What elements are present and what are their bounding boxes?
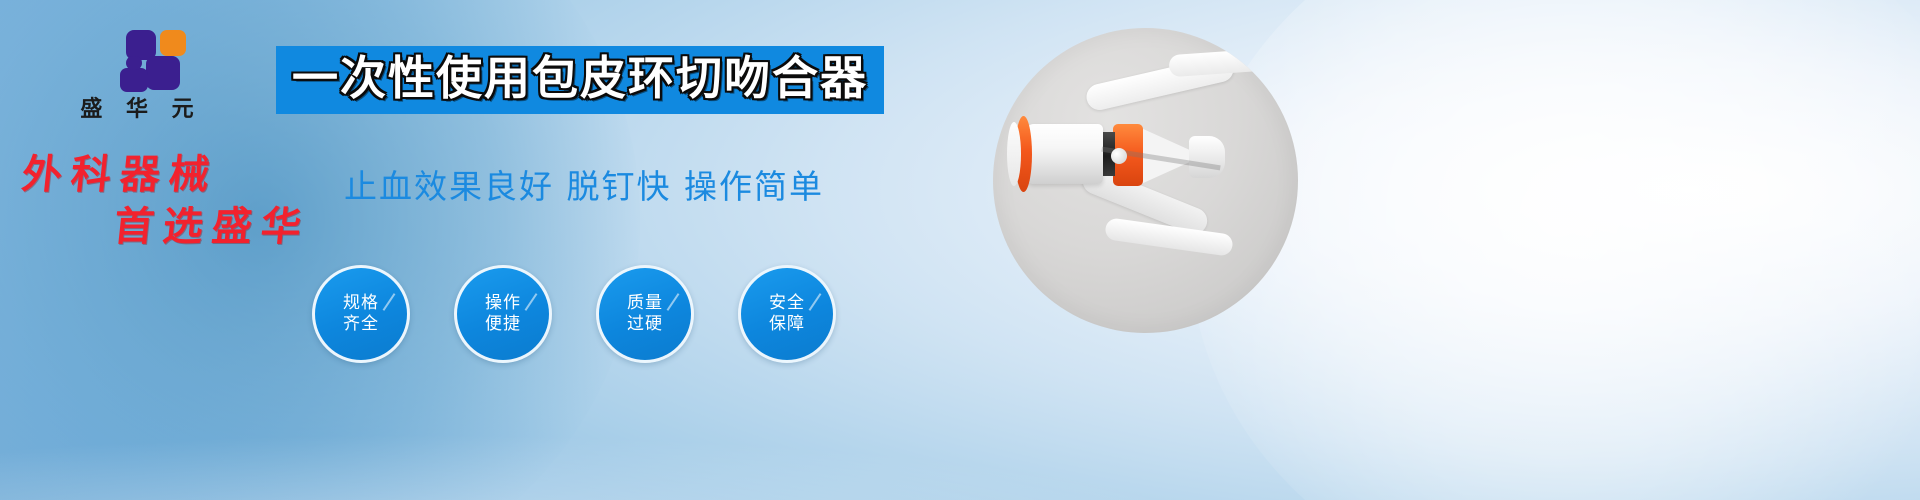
badge-label-line-2: 齐全 — [343, 314, 379, 335]
badge-label-line-2: 便捷 — [485, 314, 521, 335]
stapler-tip — [1189, 136, 1225, 178]
stapler-end-cap — [1007, 122, 1021, 186]
stapler-barrel — [1025, 124, 1103, 184]
calligraphy-slogan: 外科器械 首选盛华 — [22, 152, 352, 250]
badge-slash-icon — [809, 293, 822, 311]
background-wave — [0, 390, 1920, 500]
background-glow-right — [1190, 0, 1920, 500]
badge-label-line-2: 过硬 — [627, 314, 663, 335]
title-banner: 一次性使用包皮环切吻合器 — [276, 46, 884, 114]
page-title: 一次性使用包皮环切吻合器 — [292, 52, 868, 104]
calligraphy-line-1: 外科器械 — [20, 152, 355, 198]
badge-label-line-1: 质量 — [627, 293, 663, 314]
logo-block-lower-left — [120, 68, 148, 92]
product-photo — [993, 28, 1298, 333]
badge-label-line-1: 规格 — [343, 293, 379, 314]
logo-block-connector — [126, 56, 142, 70]
badge-slash-icon — [383, 293, 396, 311]
product-banner: 盛 华 元 一次性使用包皮环切吻合器 外科器械 首选盛华 止血效果良好 脱钉快 … — [0, 0, 1920, 500]
stapler-upper-arm-extension — [1168, 49, 1263, 78]
feature-badge-quality[interactable]: 质量 过硬 — [596, 265, 694, 363]
shenghuayuan-logo-icon — [100, 30, 174, 92]
feature-badge-specification[interactable]: 规格 齐全 — [312, 265, 410, 363]
subtitle-text: 止血效果良好 脱钉快 操作简单 — [344, 166, 824, 208]
badge-label-line-2: 保障 — [769, 314, 805, 335]
badge-slash-icon — [667, 293, 680, 311]
feature-badge-list: 规格 齐全 操作 便捷 质量 过硬 安全 保障 — [312, 265, 836, 363]
brand-logo[interactable]: 盛 华 元 — [62, 30, 212, 122]
calligraphy-line-2: 首选盛华 — [112, 204, 355, 250]
stapler-pivot — [1111, 148, 1127, 164]
logo-block-lower-right — [146, 56, 180, 90]
brand-name: 盛 华 元 — [62, 98, 212, 122]
badge-label-line-1: 安全 — [769, 293, 805, 314]
badge-label-line-1: 操作 — [485, 293, 521, 314]
badge-slash-icon — [525, 293, 538, 311]
feature-badge-operation[interactable]: 操作 便捷 — [454, 265, 552, 363]
feature-badge-safety[interactable]: 安全 保障 — [738, 265, 836, 363]
logo-block-orange — [160, 30, 186, 56]
